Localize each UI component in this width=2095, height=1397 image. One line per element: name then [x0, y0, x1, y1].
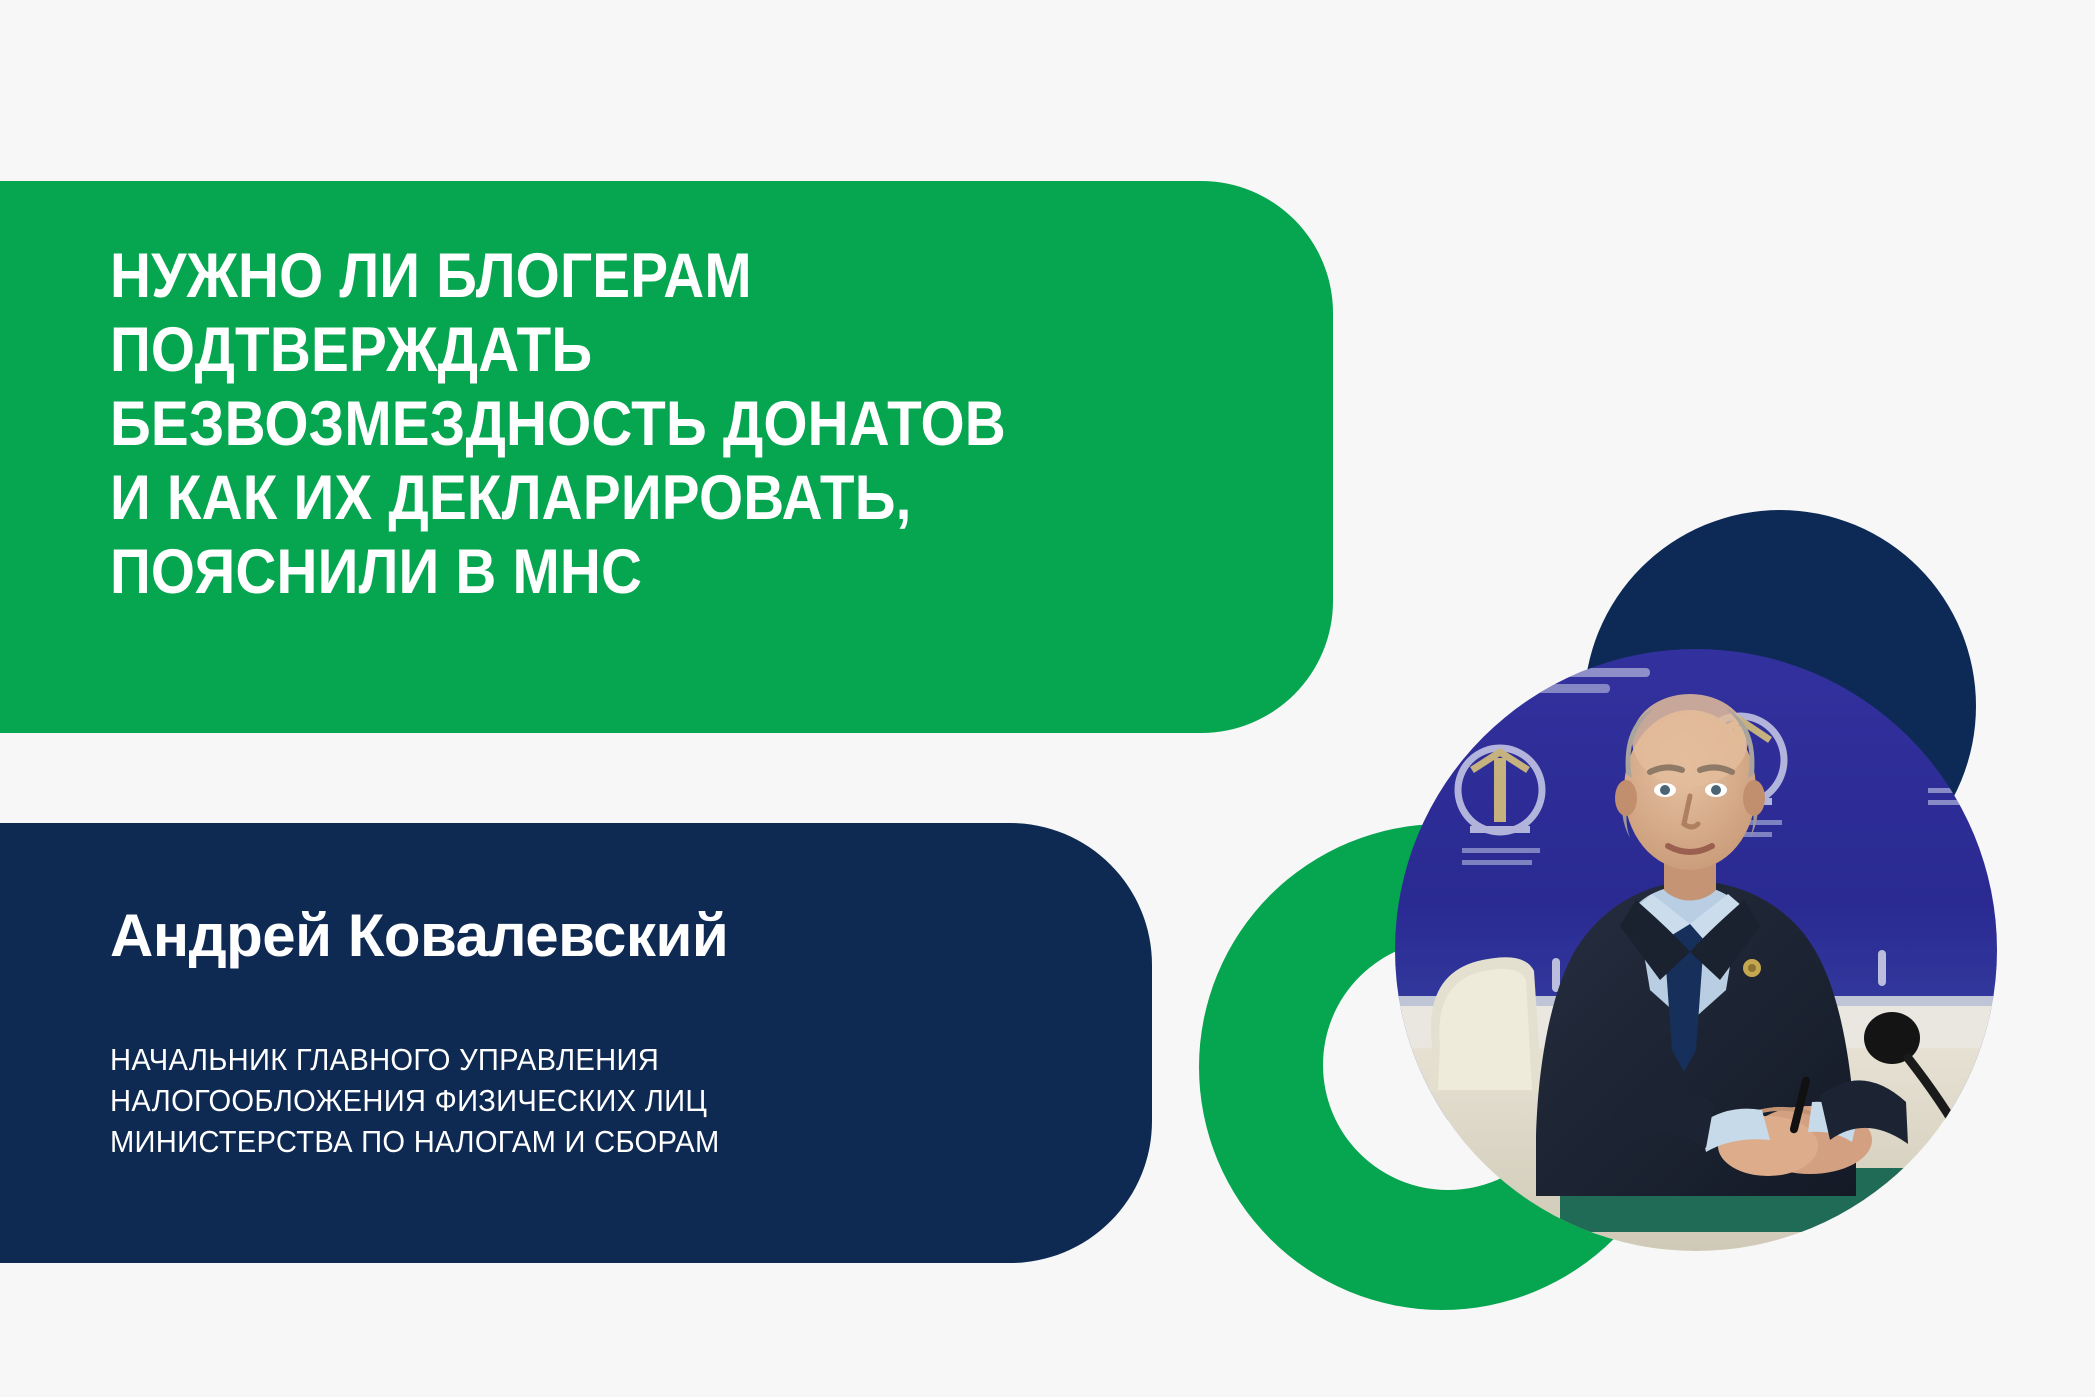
headline-line-5: ПОЯСНИЛИ В МНС	[110, 535, 1118, 609]
speaker-card: Андрей Ковалевский НАЧАЛЬНИК ГЛАВНОГО УП…	[0, 823, 1152, 1263]
speaker-photo	[1380, 640, 2020, 1258]
headline-line-2: ПОДТВЕРЖДАТЬ	[110, 313, 1118, 387]
headline-card: НУЖНО ЛИ БЛОГЕРАМ ПОДТВЕРЖДАТЬ БЕЗВОЗМЕЗ…	[0, 181, 1333, 733]
speaker-role-line-2: НАЛОГООБЛОЖЕНИЯ ФИЗИЧЕСКИХ ЛИЦ	[110, 1080, 720, 1121]
speaker-role: НАЧАЛЬНИК ГЛАВНОГО УПРАВЛЕНИЯ НАЛОГООБЛО…	[110, 1039, 720, 1162]
speaker-name: Андрей Ковалевский	[110, 903, 728, 969]
poster-canvas: НУЖНО ЛИ БЛОГЕРАМ ПОДТВЕРЖДАТЬ БЕЗВОЗМЕЗ…	[0, 0, 2095, 1397]
speaker-role-line-1: НАЧАЛЬНИК ГЛАВНОГО УПРАВЛЕНИЯ	[110, 1039, 720, 1080]
navy-ring-decoration	[1560, 490, 2000, 930]
green-ring-decoration	[1190, 815, 1700, 1325]
headline-line-4: И КАК ИХ ДЕКЛАРИРОВАТЬ,	[110, 461, 1118, 535]
headline-line-1: НУЖНО ЛИ БЛОГЕРАМ	[110, 239, 1118, 313]
headline-line-3: БЕЗВОЗМЕЗДНОСТЬ ДОНАТОВ	[110, 387, 1118, 461]
headline-text: НУЖНО ЛИ БЛОГЕРАМ ПОДТВЕРЖДАТЬ БЕЗВОЗМЕЗ…	[110, 239, 1118, 609]
speaker-role-line-3: МИНИСТЕРСТВА ПО НАЛОГАМ И СБОРАМ	[110, 1121, 720, 1162]
